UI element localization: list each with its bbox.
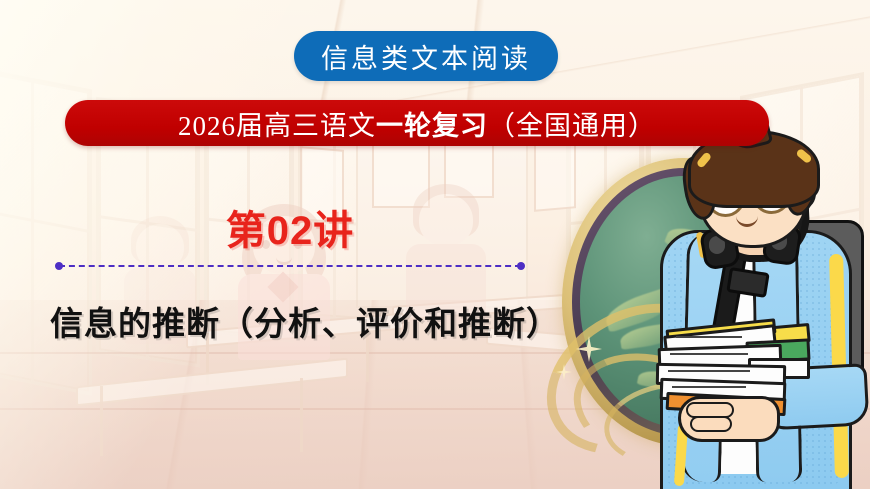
book-text-line-3 — [668, 370, 750, 372]
presentation-slide: 信息类文本阅读 2026届高三语文一轮复习（全国通用） 第02讲 信息的推断（分… — [0, 0, 870, 489]
page-title: 信息的推断（分析、评价和推断） — [50, 297, 570, 345]
lecture-number: 第02讲 — [178, 198, 402, 256]
divider-dot-right — [517, 262, 525, 270]
banner-suffix: （全国通用） — [488, 104, 656, 143]
banner-emphasis: 一轮复习 — [376, 104, 488, 143]
course-banner: 2026届高三语文一轮复习（全国通用） — [65, 100, 769, 146]
category-badge: 信息类文本阅读 — [294, 31, 558, 81]
student-boy-illustration — [636, 134, 870, 489]
book-text-line-2 — [670, 353, 748, 355]
dashed-divider — [59, 265, 521, 270]
book-text-line-1 — [676, 336, 742, 338]
divider-dot-left — [55, 262, 63, 270]
finger-2 — [690, 416, 732, 432]
book-text-line-4 — [672, 386, 746, 388]
banner-prefix: 2026届高三语文 — [178, 104, 376, 143]
